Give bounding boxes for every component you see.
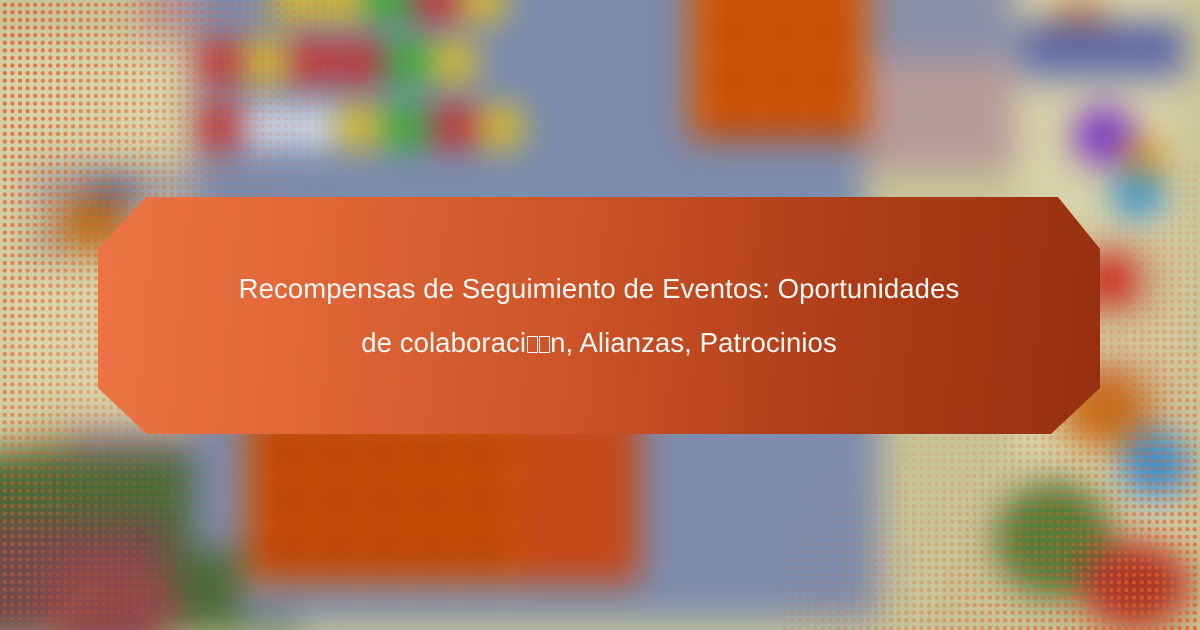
game-amber-grid-top — [695, 0, 865, 135]
game-gem — [244, 40, 288, 84]
missing-glyph-box — [527, 336, 538, 353]
game-gem — [338, 40, 382, 84]
game-gem — [291, 40, 335, 84]
game-gem — [432, 40, 476, 84]
game-gem — [385, 105, 429, 149]
game-amber-panel-bottom — [520, 408, 640, 583]
game-gem — [197, 40, 241, 84]
game-amber-grid-bottom — [245, 408, 545, 583]
game-right-blob-red — [1080, 540, 1190, 630]
game-right-blob-blue — [1120, 430, 1190, 500]
game-gem — [197, 105, 241, 149]
title-banner: Recompensas de Seguimiento de Eventos: O… — [98, 197, 1100, 434]
game-gem — [385, 40, 429, 84]
game-gem — [244, 105, 288, 149]
game-gem — [479, 105, 523, 149]
share-card: Recompensas de Seguimiento de Eventos: O… — [0, 0, 1200, 630]
game-right-panel-subheader — [1020, 64, 1185, 82]
game-right-gem-blue — [1112, 172, 1164, 218]
banner-title: Recompensas de Seguimiento de Eventos: O… — [204, 262, 994, 370]
game-gem — [291, 105, 335, 149]
game-gem — [338, 105, 382, 149]
game-right-panel-header — [1020, 22, 1185, 70]
game-gem — [432, 105, 476, 149]
missing-glyph-box — [539, 336, 550, 353]
